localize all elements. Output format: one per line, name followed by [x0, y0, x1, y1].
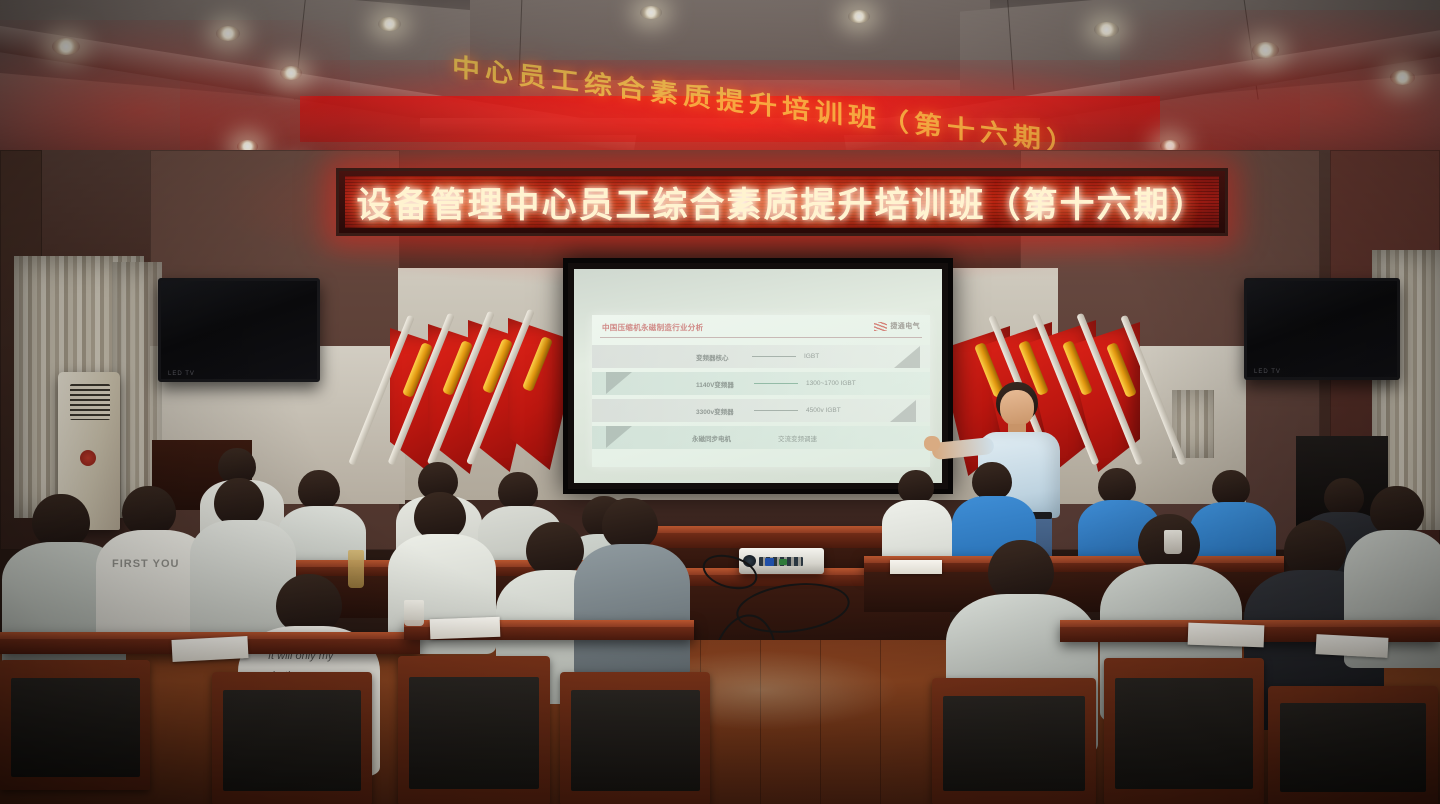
slide-row: 3300v变频器 4500v IGBT — [592, 399, 930, 422]
water-cup — [1164, 530, 1182, 554]
slide-row-value: 交流变频调速 — [778, 433, 817, 443]
slide-row-label: 3300v变频器 — [696, 406, 734, 416]
slide-title: 中国压缩机永磁制造行业分析 — [602, 322, 703, 333]
notebook — [1316, 634, 1389, 658]
projection-screen: 中国压缩机永磁制造行业分析 捷通电气 变频器核心 IGBT 1140 — [563, 258, 953, 494]
chair — [932, 678, 1096, 804]
notebook — [171, 636, 248, 662]
presenter-hand — [924, 436, 940, 451]
ceiling-downlight — [1094, 22, 1119, 37]
tv-brand-label: LED TV — [168, 371, 195, 377]
notebook — [890, 560, 942, 574]
slide-row-value: 1300~1700 IGBT — [806, 380, 856, 387]
chair — [0, 660, 150, 790]
ceiling-downlight — [378, 17, 401, 31]
ceiling-downlight — [280, 66, 302, 80]
slide-row-value: 4500v IGBT — [806, 407, 841, 414]
ceiling-downlight — [52, 38, 80, 55]
ceiling-downlight — [848, 10, 870, 23]
chair — [212, 672, 372, 804]
slide-row-label: 永磁同步电机 — [692, 433, 731, 443]
slide-row: 永磁同步电机 交流变频调速 — [592, 426, 930, 449]
company-logo-icon — [874, 322, 887, 331]
water-bottle — [348, 550, 364, 588]
slide-row: 1140V变频器 1300~1700 IGBT — [592, 372, 930, 395]
shirt-print-text: FIRST YOU — [112, 558, 179, 570]
tv-brand-label: LED TV — [1254, 369, 1281, 375]
projector-vga-connector — [765, 558, 774, 566]
wall-tv-left: LED TV — [158, 278, 320, 382]
slide-header: 中国压缩机永磁制造行业分析 捷通电气 — [600, 320, 922, 338]
chair — [1268, 686, 1438, 804]
notebook — [430, 617, 501, 639]
slide-row: 变频器核心 IGBT — [592, 345, 930, 368]
slide-logo: 捷通电气 — [874, 321, 920, 331]
ceiling-downlight — [1390, 70, 1415, 85]
slide-row-label: 1140V变频器 — [696, 379, 734, 389]
slide-row-label: 变频器核心 — [696, 352, 729, 362]
audience-member-front — [574, 498, 688, 676]
led-banner: 设备管理中心员工综合素质提升培训班（第十六期） — [336, 168, 1228, 236]
ceiling-downlight — [216, 26, 240, 41]
ceiling-downlight — [640, 6, 662, 19]
chair — [398, 656, 550, 804]
ceiling-downlight — [1252, 42, 1279, 58]
slide-row-value: IGBT — [804, 353, 819, 360]
projection-screen-surface: 中国压缩机永磁制造行业分析 捷通电气 变频器核心 IGBT 1140 — [574, 269, 942, 483]
led-banner-screen: 设备管理中心员工综合素质提升培训班（第十六期） — [345, 176, 1219, 228]
chair — [560, 672, 710, 804]
projector-cable-connector — [779, 559, 787, 565]
company-logo-text: 捷通电气 — [890, 321, 920, 331]
photo-scene: 中心员工综合素质提升培训班（第十六期） 设备管理中心员工综合素质提升培训班（第十… — [0, 0, 1440, 804]
wall-tv-right: LED TV — [1244, 278, 1400, 380]
chair — [1104, 658, 1264, 804]
presenter-face — [1000, 390, 1034, 426]
presentation-slide: 中国压缩机永磁制造行业分析 捷通电气 变频器核心 IGBT 1140 — [592, 315, 930, 467]
water-cup — [404, 600, 424, 626]
led-banner-text: 设备管理中心员工综合素质提升培训班（第十六期） — [356, 177, 1207, 228]
ceiling: 中心员工综合素质提升培训班（第十六期） — [0, 0, 1440, 175]
notebook — [1188, 623, 1265, 648]
